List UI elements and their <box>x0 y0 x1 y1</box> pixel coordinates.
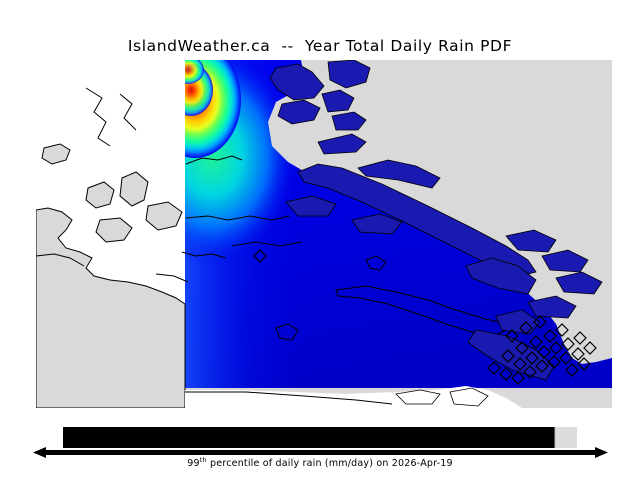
page-title: IslandWeather.ca -- Year Total Daily Rai… <box>0 37 640 55</box>
colorbar-over-arrow-icon <box>594 447 608 458</box>
caption-ordinal-suffix: th <box>200 456 207 464</box>
colorbar-under-bar <box>44 450 597 455</box>
colorbar-caption: 99th percentile of daily rain (mm/day) o… <box>0 458 640 469</box>
map-panel[interactable] <box>36 60 612 408</box>
rainfall-heatmap-layer <box>36 60 612 408</box>
colorbar[interactable] <box>63 427 577 448</box>
caption-percentile-number: 99 <box>187 458 200 469</box>
colorbar-under-arrow-icon <box>33 447 47 458</box>
caption-text: percentile of daily rain (mm/day) on 202… <box>207 458 453 469</box>
